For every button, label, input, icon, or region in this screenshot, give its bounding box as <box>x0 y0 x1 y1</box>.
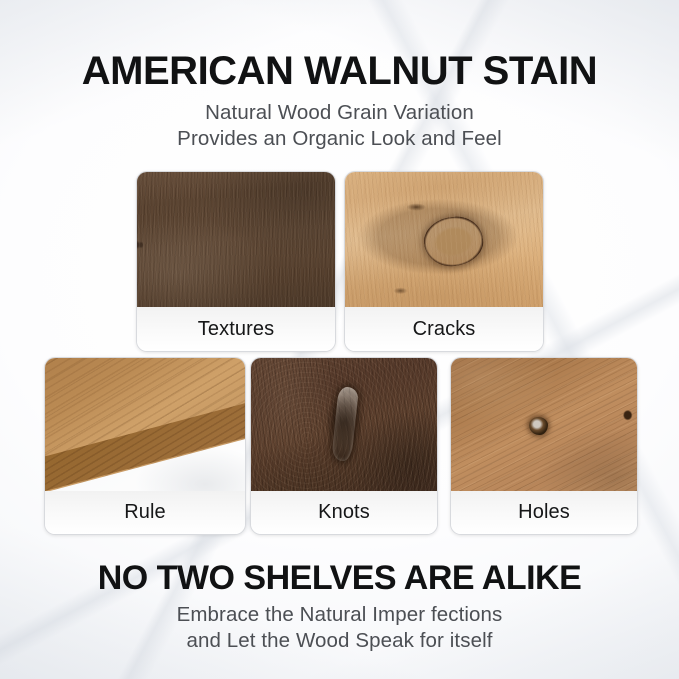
wood-texture-light-tan-knot-icon <box>345 172 543 307</box>
feature-card-label: Cracks <box>345 307 543 351</box>
wood-texture-dark-rough-knot-icon <box>251 358 437 491</box>
wood-texture-dark-walnut-arc-grain-icon <box>137 172 335 307</box>
wood-sample-thumbnail-rule <box>45 358 245 491</box>
page-title: AMERICAN WALNUT STAIN <box>0 48 679 94</box>
feature-card-holes[interactable]: Holes <box>450 357 638 535</box>
wood-texture-medium-brown-hole-icon <box>451 358 637 491</box>
wood-sample-thumbnail-holes <box>451 358 637 491</box>
header-subtitle-line-2: Provides an Organic Look and Feel <box>0 126 679 152</box>
feature-card-label: Textures <box>137 307 335 351</box>
feature-card-label: Holes <box>451 491 637 534</box>
wood-sample-thumbnail-knots <box>251 358 437 491</box>
wood-sample-thumbnail-cracks <box>345 172 543 307</box>
footer-subtitle-line-2: and Let the Wood Speak for itself <box>0 628 679 654</box>
header-subtitle: Natural Wood Grain Variation Provides an… <box>0 100 679 152</box>
header-subtitle-line-1: Natural Wood Grain Variation <box>0 100 679 126</box>
feature-card-rule[interactable]: Rule <box>44 357 246 535</box>
wood-sample-thumbnail-textures <box>137 172 335 307</box>
footer-title: NO TWO SHELVES ARE ALIKE <box>0 558 679 598</box>
footer-subtitle-line-1: Embrace the Natural Imper fections <box>0 602 679 628</box>
footer-subtitle: Embrace the Natural Imper fections and L… <box>0 602 679 654</box>
feature-card-label: Knots <box>251 491 437 534</box>
feature-card-cracks[interactable]: Cracks <box>344 171 544 352</box>
feature-card-textures[interactable]: Textures <box>136 171 336 352</box>
feature-card-knots[interactable]: Knots <box>250 357 438 535</box>
promo-graphic: AMERICAN WALNUT STAIN Natural Wood Grain… <box>0 0 679 679</box>
wood-texture-diagonal-plank-edge-icon <box>45 358 245 491</box>
feature-card-label: Rule <box>45 491 245 534</box>
